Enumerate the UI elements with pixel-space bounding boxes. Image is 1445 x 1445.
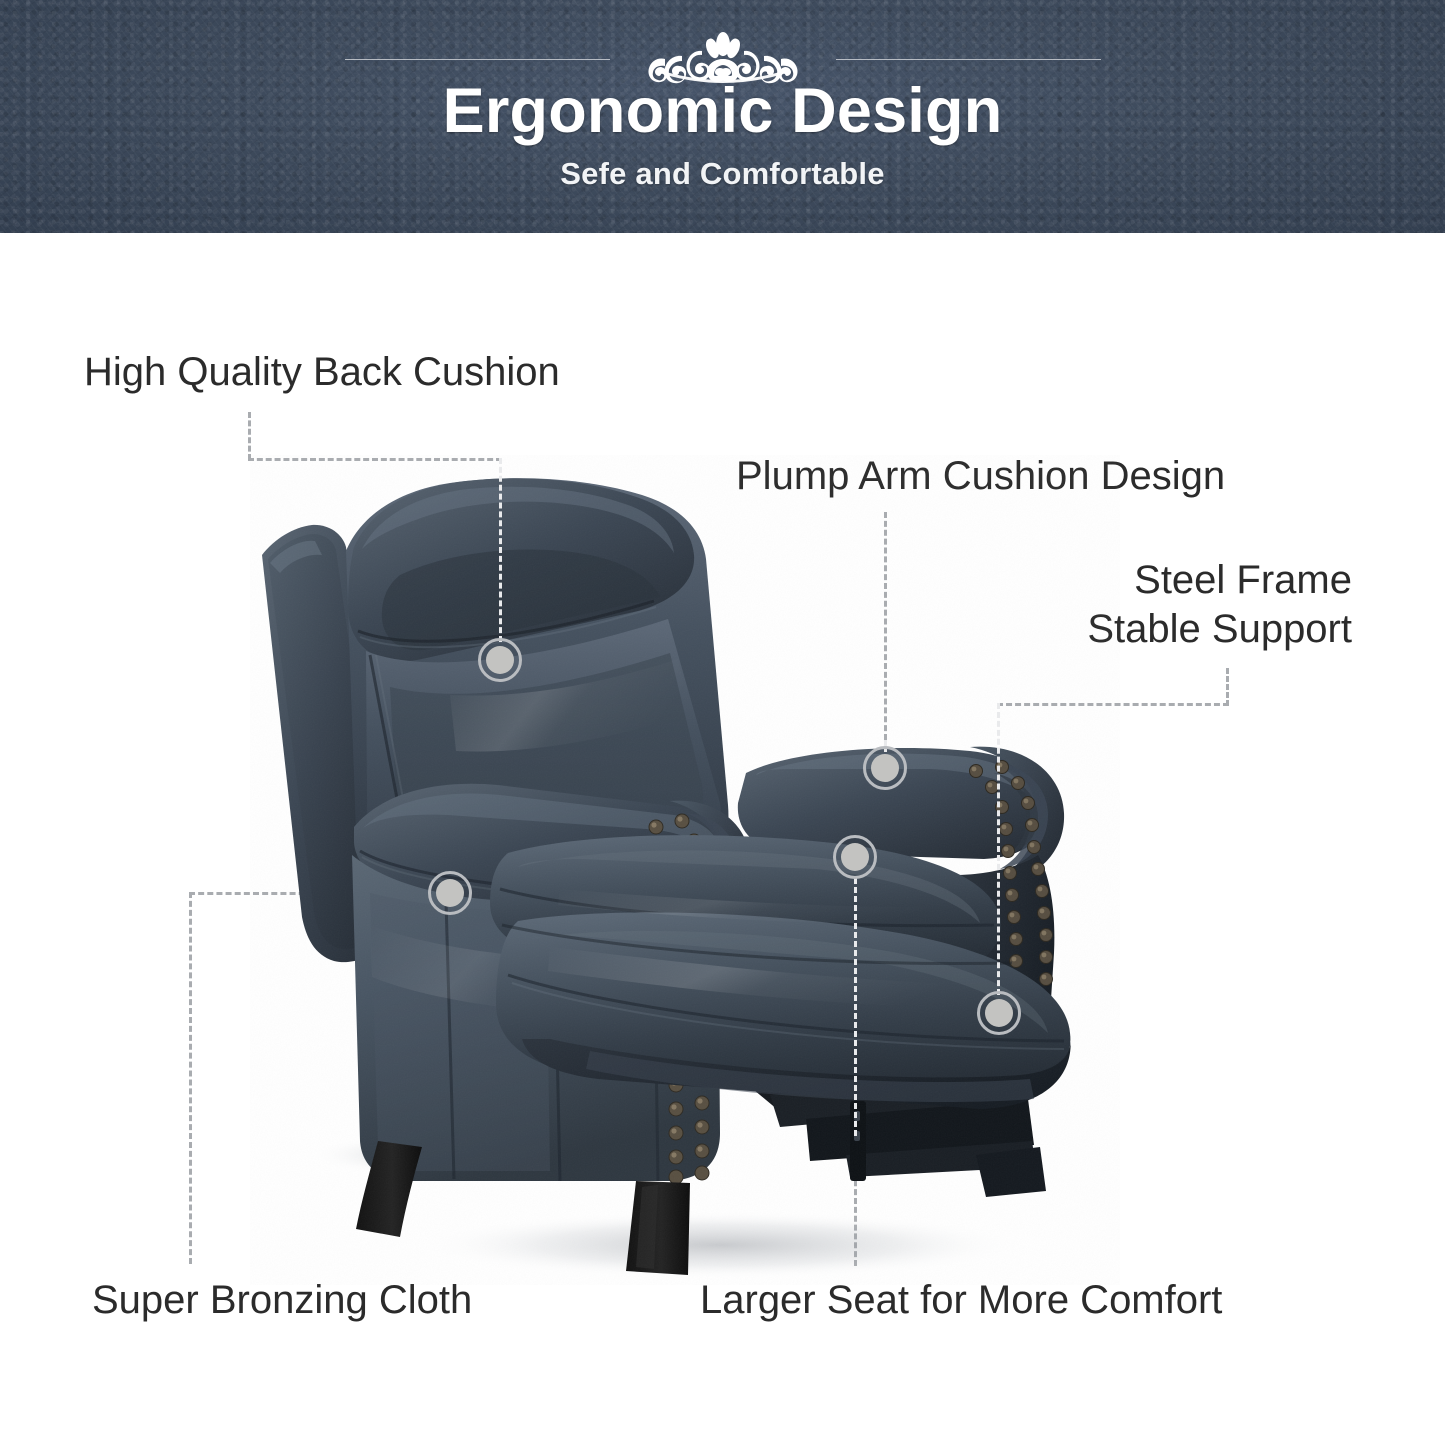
divider-rule-right <box>836 59 1101 60</box>
leader-back-cushion-segment-3 <box>499 458 502 642</box>
leader-larger-seat-segment-1 <box>854 878 857 1136</box>
leader-steel-frame-segment-1 <box>1226 668 1229 706</box>
marker-bronzing-cloth[interactable] <box>428 871 472 915</box>
header-banner: Ergonomic Design Sefe and Comfortable <box>0 0 1445 233</box>
divider-rule-left <box>345 59 610 60</box>
recliner-chair-image <box>250 455 1120 1285</box>
leader-back-cushion-segment-1 <box>248 412 251 460</box>
leader-steel-frame-segment-3 <box>997 703 1000 995</box>
leader-bronzing-cloth-segment-2 <box>189 892 192 1264</box>
page-subtitle: Sefe and Comfortable <box>0 156 1445 192</box>
marker-steel-frame[interactable] <box>977 991 1021 1035</box>
infographic-page: Ergonomic Design Sefe and Comfortable <box>0 0 1445 1445</box>
marker-arm-cushion[interactable] <box>863 746 907 790</box>
marker-back-cushion[interactable] <box>478 638 522 682</box>
callout-label-back-cushion: High Quality Back Cushion <box>84 348 560 397</box>
marker-larger-seat[interactable] <box>833 835 877 879</box>
page-title: Ergonomic Design <box>0 78 1445 145</box>
